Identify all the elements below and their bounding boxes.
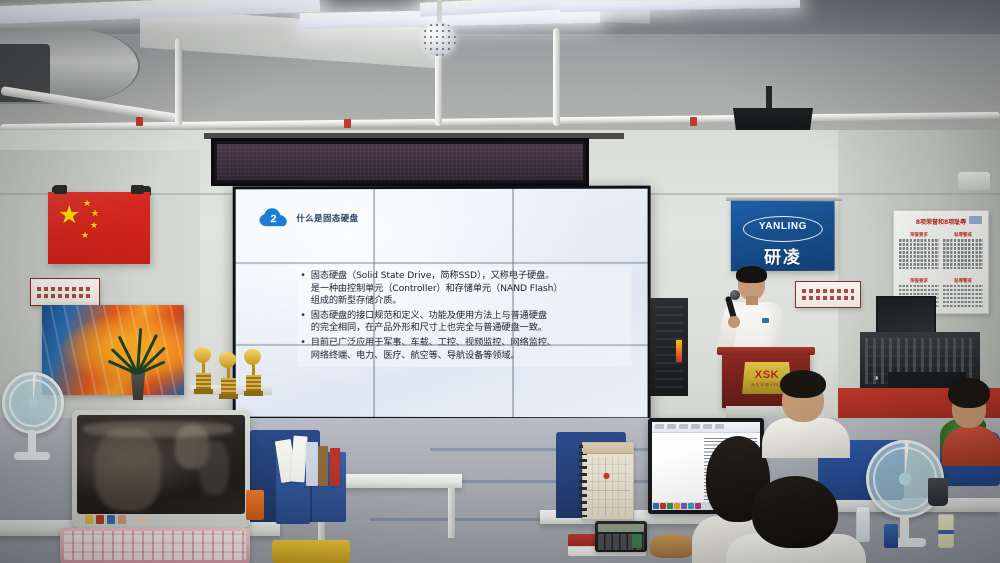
tower-indicator-lights: [676, 340, 682, 362]
taskbar-icon[interactable]: [674, 503, 680, 509]
shirt-logo: [762, 318, 769, 323]
led-panel-surface: [217, 144, 583, 180]
water-pipe-riser: [553, 28, 560, 126]
bottle-cap: [938, 530, 954, 534]
calendar-grid: [586, 457, 630, 516]
monitor-sticker: [118, 515, 126, 524]
slide-bullet: • 固态硬盘的接口规范和定义、功能及使用方法上与普通硬盘 的完全相同，在产品外形…: [301, 310, 627, 335]
microphone-icon[interactable]: [730, 290, 740, 300]
poster-column: 耻辱警戒: [943, 230, 983, 271]
podium-top: [717, 347, 815, 355]
monitor-bezel: [77, 514, 245, 526]
person-shoulders: [762, 418, 850, 458]
poster-text-line: [943, 247, 983, 250]
bullet-line: 固态硬盘（Solid State Drive，简称SSD），又称电子硬盘。: [311, 270, 555, 281]
calculator[interactable]: [595, 521, 647, 552]
calligraphy-plaque: [30, 278, 100, 306]
person-shoulders: [942, 426, 1000, 466]
bullet-line: 目前已广泛应用于军事、车载、工控、视频监控、网络监控、: [311, 337, 556, 348]
calendar-header: [583, 443, 633, 454]
presenter-hand: [728, 316, 740, 328]
trophy-base: [196, 373, 211, 389]
poster-text-line: [899, 285, 939, 288]
ceiling: [0, 0, 1000, 142]
yellow-bag: [272, 540, 350, 563]
bullet-marker: •: [301, 310, 305, 335]
monitor-sticker: [96, 515, 104, 524]
panel-seam: [236, 262, 648, 264]
trophy-base: [246, 375, 261, 391]
toolbar-icon[interactable]: [715, 424, 724, 429]
poster-text-line: [899, 239, 939, 242]
presentation-slide: 2 什么是固态硬盘 • 固态硬盘（Solid State Drive，简称SSD…: [236, 189, 648, 418]
mug[interactable]: [928, 478, 948, 506]
monitor-screen: [77, 415, 245, 514]
poster-text-line: [943, 239, 983, 242]
slide-header: 2 什么是固态硬盘: [260, 208, 359, 227]
all-in-one-monitor[interactable]: [72, 410, 250, 528]
toolbar-icon[interactable]: [667, 424, 676, 429]
taskbar-icon[interactable]: [653, 503, 659, 509]
slide-title: 什么是固态硬盘: [296, 212, 358, 224]
toolbar-icon[interactable]: [679, 424, 688, 429]
water-pipe-riser: [175, 38, 182, 126]
poster-stamp: [969, 216, 982, 224]
trophy-stem: [202, 363, 205, 373]
flag-star: ★: [81, 231, 89, 240]
yanling-banner: YANLING 研凌: [731, 201, 835, 271]
poster-section-heading: 荣誉要求: [899, 278, 939, 284]
poster-text-line: [943, 293, 983, 296]
snack-item: [650, 534, 694, 558]
back-monitor: [876, 296, 936, 336]
app-toolbar[interactable]: [652, 422, 760, 433]
led-scroll-board: [211, 138, 589, 186]
poster-columns: 荣誉要求 耻辱警戒: [899, 230, 983, 271]
desk-leg: [448, 488, 455, 538]
bullet-content: 固态硬盘（Solid State Drive，简称SSD），又称电子硬盘。 是一…: [311, 270, 563, 308]
poster-text-line: [943, 267, 983, 270]
slide-screen: 2 什么是固态硬盘 • 固态硬盘（Solid State Drive，简称SSD…: [236, 189, 648, 418]
floor-seam: [430, 448, 680, 451]
monitor-photo-sticker: [135, 515, 147, 524]
poster-text-line: [943, 243, 983, 246]
audience-person: [770, 368, 842, 458]
pink-keyboard[interactable]: [60, 528, 250, 563]
china-national-flag: ★ ★ ★ ★ ★: [48, 192, 150, 264]
desk-fan-base: [14, 452, 50, 460]
trophy-cup: [219, 352, 236, 368]
trophy-plate: [244, 391, 263, 396]
desk-fan[interactable]: [2, 372, 64, 434]
poster-section-heading: 耻辱警戒: [943, 278, 983, 284]
calendar-marked-date: ●: [603, 471, 615, 482]
person-hair: [780, 370, 826, 398]
flag-star: ★: [91, 209, 99, 218]
presenter-neck: [746, 296, 758, 305]
bullet-line: 是一种由控制单元（Controller）和存储单元（NAND Flash）: [311, 283, 563, 294]
trophy-cup: [194, 347, 211, 363]
poster-column-heading: 荣誉要求: [899, 232, 939, 238]
poster-text-line: [899, 289, 939, 292]
trophy-plate: [194, 389, 213, 394]
poster-column: 耻辱警戒: [943, 276, 983, 309]
document-folder: [318, 446, 328, 486]
poster-text-line: [899, 243, 939, 246]
flag-star: ★: [58, 203, 80, 228]
panel-seam: [512, 189, 514, 417]
monitor-sticker: [85, 515, 93, 524]
poster-text-line: [943, 285, 983, 288]
server-tower: [650, 298, 688, 396]
trophy-stem: [227, 368, 230, 378]
taskbar-icon[interactable]: [667, 503, 673, 509]
screen-reflection: [83, 421, 233, 437]
banner-brand-cn: 研凌: [731, 243, 835, 268]
poster-text-line: [943, 251, 983, 254]
video-wall-display[interactable]: 2 什么是固态硬盘 • 固态硬盘（Solid State Drive，简称SSD…: [233, 186, 651, 421]
potted-plant: [112, 300, 164, 400]
poster-text-line: [899, 247, 939, 250]
pipe-marker: [344, 119, 351, 128]
poster-text-line: [943, 305, 983, 308]
poster-text-line: [943, 259, 983, 262]
trophy-stem: [252, 365, 255, 375]
water-bottle[interactable]: [856, 506, 870, 542]
poster-text-line: [899, 267, 939, 270]
audience-person: [736, 476, 856, 563]
calculator-display: [598, 524, 644, 532]
presenter-hair: [736, 266, 767, 283]
rack-knob[interactable]: [874, 376, 878, 380]
panel-seam: [373, 189, 375, 417]
pen-holder: [246, 490, 264, 520]
calligraphy-plaque: [795, 281, 861, 308]
water-pipe-riser: [435, 48, 442, 126]
trophy-plate: [219, 394, 238, 399]
document-folder: [306, 442, 318, 486]
sprinkler-ball-fixture: [422, 22, 456, 56]
flag-star: ★: [83, 199, 91, 208]
person-hair: [948, 378, 990, 408]
pipe-marker: [136, 117, 143, 126]
toolbar-icon[interactable]: [703, 424, 712, 429]
poster-text-line: [943, 263, 983, 266]
plaque-text: [37, 284, 93, 300]
bullet-line: 组成的新型存储介质。: [311, 295, 402, 306]
poster-text-line: [943, 255, 983, 258]
audience-person: [944, 378, 1000, 466]
poster-text-line: [899, 255, 939, 258]
bullet-marker: •: [301, 270, 305, 308]
desk-calendar: ●: [582, 442, 634, 520]
cloud-icon: 2: [260, 208, 288, 227]
trophy-cup: [244, 349, 261, 365]
screen-reflection: [199, 441, 229, 495]
screen-reflection: [95, 429, 161, 511]
monitor-sticker: [107, 515, 115, 524]
bullet-content: 目前已广泛应用于军事、车载、工控、视频监控、网络监控、 网络终端、电力、医疗、航…: [311, 337, 556, 362]
poster-column-heading: 耻辱警戒: [943, 232, 983, 238]
trophy-base: [221, 378, 236, 394]
poster-text-line: [943, 297, 983, 300]
banner-brand-en: YANLING: [743, 221, 823, 232]
blue-bottle[interactable]: [884, 524, 898, 548]
person-hair: [752, 476, 838, 548]
air-conditioner-unit: [958, 172, 990, 190]
poster-text-line: [943, 289, 983, 292]
poster-text-line: [899, 263, 939, 266]
panel-seam: [236, 344, 648, 346]
poster-text-line: [899, 259, 939, 262]
calculator-equals-key[interactable]: [632, 534, 642, 548]
plant-pot: [128, 372, 148, 400]
slide-bullet: • 固态硬盘（Solid State Drive，简称SSD），又称电子硬盘。 …: [301, 270, 627, 308]
pipe-marker: [690, 117, 697, 126]
bullet-marker: •: [301, 337, 305, 362]
slide-bullet-list: • 固态硬盘（Solid State Drive，简称SSD），又称电子硬盘。 …: [297, 267, 631, 367]
slide-bullet: • 目前已广泛应用于军事、车载、工控、视频监控、网络监控、 网络终端、电力、医疗…: [301, 337, 627, 362]
meeting-room-photo: 2 什么是固态硬盘 • 固态硬盘（Solid State Drive，简称SSD…: [0, 0, 1000, 563]
toolbar-icon[interactable]: [691, 424, 700, 429]
taskbar-icon[interactable]: [681, 503, 687, 509]
bullet-line: 网络终端、电力、医疗、航空等、导航设备等领域。: [311, 349, 520, 360]
poster-text-line: [943, 301, 983, 304]
plaque-text: [802, 287, 854, 302]
toolbar-icon[interactable]: [655, 424, 664, 429]
poster-text-line: [899, 251, 939, 254]
taskbar-icon[interactable]: [660, 503, 666, 509]
poster-column: 荣誉要求: [899, 230, 939, 271]
flag-star: ★: [90, 221, 98, 230]
slide-section-number: 2: [260, 208, 288, 227]
document-folder: [330, 448, 340, 486]
